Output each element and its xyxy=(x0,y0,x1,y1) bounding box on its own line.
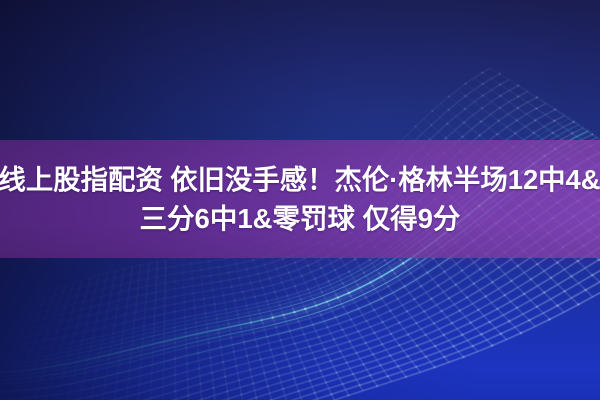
headline-block: 线上股指配资 依旧没手感！杰伦·格林半场12中4& 三分6中1&零罚球 仅得9分 xyxy=(0,140,600,258)
banner-image: 线上股指配资 依旧没手感！杰伦·格林半场12中4& 三分6中1&零罚球 仅得9分 xyxy=(0,0,600,400)
headline-line-1: 线上股指配资 依旧没手感！杰伦·格林半场12中4& xyxy=(0,162,600,197)
headline-line-2: 三分6中1&零罚球 仅得9分 xyxy=(140,201,461,236)
